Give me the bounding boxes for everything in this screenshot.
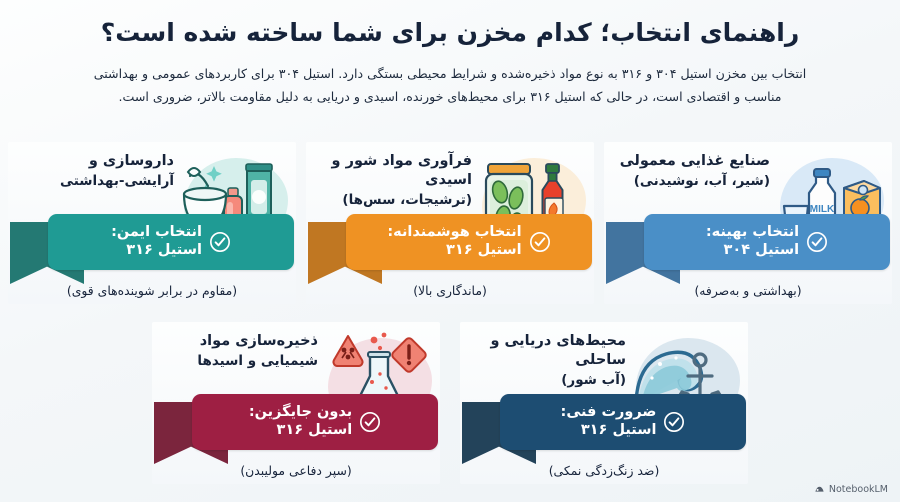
badge-line1: انتخاب بهینه: — [706, 224, 799, 242]
check-circle-icon — [806, 231, 828, 253]
page-title: راهنمای انتخاب؛ کدام مخزن برای شما ساخته… — [0, 0, 900, 50]
card-heading-line2: (ترشیجات، سس‌ها) — [314, 191, 472, 209]
badge-line2: استیل ۳۰۴ — [706, 242, 799, 260]
header: راهنمای انتخاب؛ کدام مخزن برای شما ساخته… — [0, 0, 900, 108]
card-pharma[interactable]: داروسازی و آرایشی-بهداشتی انتخاب ایمن: ا… — [8, 142, 296, 304]
card-heading-line2: شیمیایی و اسیدها — [160, 352, 318, 370]
notebooklm-icon — [814, 484, 825, 495]
card-marine[interactable]: محیط‌های دریایی و ساحلی (آب شور) ضرورت ف… — [460, 322, 748, 484]
badge-line1: انتخاب ایمن: — [111, 224, 202, 242]
ribbon-body[interactable]: انتخاب هوشمندانه: استیل ۳۱۶ — [346, 214, 592, 270]
card-heading-line2: آرایشی-بهداشتی — [16, 172, 174, 190]
watermark-label: NotebookLM — [829, 484, 888, 495]
card-row-bottom: محیط‌های دریایی و ساحلی (آب شور) ضرورت ف… — [152, 322, 748, 484]
card-heading-line1: داروسازی و — [16, 152, 174, 171]
card-note: (مقاوم در برابر شوینده‌های قوی) — [8, 283, 296, 298]
check-circle-icon — [359, 411, 381, 433]
badge-line2: استیل ۳۱۶ — [111, 242, 202, 260]
card-heading: داروسازی و آرایشی-بهداشتی — [16, 152, 174, 190]
ribbon-body[interactable]: انتخاب بهینه: استیل ۳۰۴ — [644, 214, 890, 270]
card-note: (سپر دفاعی مولیبدن) — [152, 463, 440, 478]
recommendation-banner[interactable]: انتخاب ایمن: استیل ۳۱۶ — [8, 214, 296, 276]
badge-line1: ضرورت فنی: — [561, 404, 657, 422]
check-circle-icon — [209, 231, 231, 253]
card-row-top: MILK صنایع غذایی معمولی (شیر، آب، نوشیدن… — [8, 142, 892, 304]
recommendation-banner[interactable]: بدون جایگزین: استیل ۳۱۶ — [152, 394, 440, 456]
check-circle-icon — [663, 411, 685, 433]
badge-line2: استیل ۳۱۶ — [561, 422, 657, 440]
card-heading: صنایع غذایی معمولی (شیر، آب، نوشیدنی) — [612, 152, 770, 190]
card-heading: محیط‌های دریایی و ساحلی (آب شور) — [468, 332, 626, 389]
recommendation-banner[interactable]: انتخاب بهینه: استیل ۳۰۴ — [604, 214, 892, 276]
card-note: (ماندگاری بالا) — [306, 283, 594, 298]
badge-line2: استیل ۳۱۶ — [249, 422, 352, 440]
infographic-page: راهنمای انتخاب؛ کدام مخزن برای شما ساخته… — [0, 0, 900, 502]
card-heading: فرآوری مواد شور و اسیدی (ترشیجات، سس‌ها) — [314, 152, 472, 209]
card-heading-line2: (شیر، آب، نوشیدنی) — [612, 172, 770, 190]
badge-line1: انتخاب هوشمندانه: — [387, 224, 521, 242]
card-heading-line1: صنایع غذایی معمولی — [612, 152, 770, 171]
card-heading-line1: فرآوری مواد شور و اسیدی — [314, 152, 472, 190]
page-subtitle: انتخاب بین مخزن استیل ۳۰۴ و ۳۱۶ به نوع م… — [80, 50, 820, 109]
card-note: (بهداشتی و به‌صرفه) — [604, 283, 892, 298]
card-food[interactable]: MILK صنایع غذایی معمولی (شیر، آب، نوشیدن… — [604, 142, 892, 304]
watermark: NotebookLM — [814, 484, 888, 495]
card-chemicals[interactable]: ذخیره‌سازی مواد شیمیایی و اسیدها بدون جا… — [152, 322, 440, 484]
recommendation-banner[interactable]: انتخاب هوشمندانه: استیل ۳۱۶ — [306, 214, 594, 276]
badge-line2: استیل ۳۱۶ — [387, 242, 521, 260]
ribbon-body[interactable]: انتخاب ایمن: استیل ۳۱۶ — [48, 214, 294, 270]
card-heading-line1: محیط‌های دریایی و ساحلی — [468, 332, 626, 370]
badge-line1: بدون جایگزین: — [249, 404, 352, 422]
card-heading-line2: (آب شور) — [468, 371, 626, 389]
ribbon-body[interactable]: ضرورت فنی: استیل ۳۱۶ — [500, 394, 746, 450]
recommendation-banner[interactable]: ضرورت فنی: استیل ۳۱۶ — [460, 394, 748, 456]
card-note: (ضد زنگ‌زدگی نمکی) — [460, 463, 748, 478]
card-heading-line1: ذخیره‌سازی مواد — [160, 332, 318, 351]
ribbon-body[interactable]: بدون جایگزین: استیل ۳۱۶ — [192, 394, 438, 450]
check-circle-icon — [529, 231, 551, 253]
card-pickles[interactable]: فرآوری مواد شور و اسیدی (ترشیجات، سس‌ها)… — [306, 142, 594, 304]
card-heading: ذخیره‌سازی مواد شیمیایی و اسیدها — [160, 332, 318, 370]
